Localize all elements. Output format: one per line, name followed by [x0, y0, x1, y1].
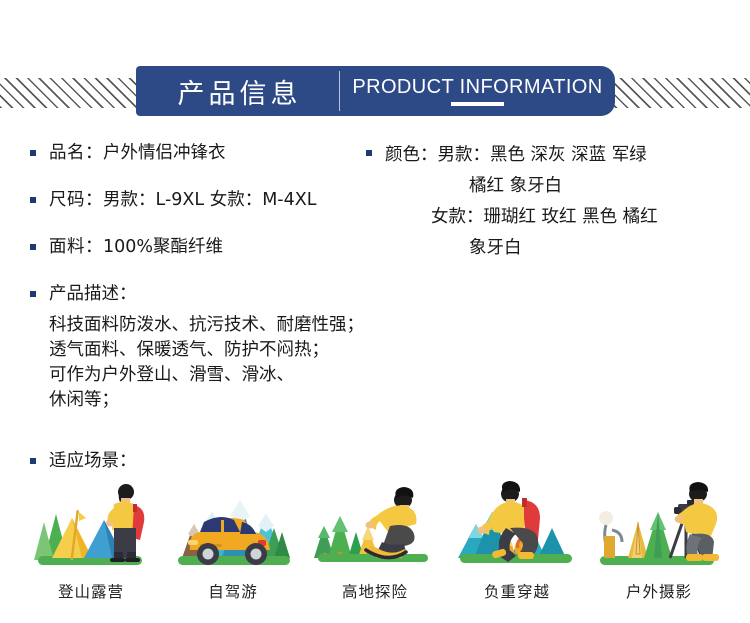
spec-value-fabric: 100%聚酯纤维 — [103, 237, 223, 257]
scene-label-highland: 高地探险 — [342, 580, 408, 602]
spec-row-color: 颜色：男款：黑色 深灰 深蓝 军绿 橘红 象牙白 女款：珊瑚红 玫红 黑色 橘红… — [366, 140, 736, 264]
scene-item-trekking[interactable]: 负重穿越 — [448, 478, 586, 608]
description-line: 透气面料、保暖透气、防护不闷热； — [49, 338, 375, 363]
bullet-square-icon — [30, 244, 36, 250]
spec-label-fabric: 面料： — [49, 237, 103, 257]
scene-label-trekking: 负重穿越 — [484, 580, 550, 602]
hatch-pattern-left — [0, 78, 146, 108]
bullet-square-icon — [30, 150, 36, 156]
description-body: 科技面料防泼水、抗污技术、耐磨性强； 透气面料、保暖透气、防护不闷热； 可作为户… — [49, 313, 375, 413]
scene-label-photography: 户外摄影 — [626, 580, 692, 602]
scene-label-camping: 登山露营 — [58, 580, 124, 602]
scene-label-roadtrip: 自驾游 — [208, 580, 258, 602]
scene-item-camping[interactable]: 登山露营 — [22, 478, 160, 608]
bullet-square-icon — [30, 197, 36, 203]
spec-column-left: 品名：户外情侣冲锋衣 尺码：男款：L-9XL 女款：M-4XL 面料：100%聚… — [30, 140, 375, 413]
road-trip-car-icon — [164, 478, 302, 574]
spec-row-name: 品名：户外情侣冲锋衣 — [30, 140, 375, 166]
color-line-mens-cont: 橘红 象牙白 — [385, 171, 658, 202]
page-title-cn: 产品信息 — [136, 66, 339, 116]
title-banner: 产品信息 PRODUCT INFORMATION — [136, 66, 615, 116]
color-line-womens-cont: 象牙白 — [385, 233, 658, 264]
hiker-backpack-icon — [448, 478, 586, 574]
scene-strip: 登山露营 — [22, 478, 728, 608]
bullet-square-icon — [30, 458, 36, 464]
page-title-en-block: PRODUCT INFORMATION — [340, 66, 615, 116]
spec-value-size: 男款：L-9XL 女款：M-4XL — [103, 190, 316, 210]
color-line-womens: 女款：珊瑚红 玫红 黑色 橘红 — [385, 202, 658, 233]
bullet-square-icon — [366, 150, 372, 156]
spec-row-fabric: 面料：100%聚酯纤维 — [30, 234, 375, 260]
scenes-label: 适应场景： — [49, 448, 137, 474]
spec-row-size: 尺码：男款：L-9XL 女款：M-4XL — [30, 187, 375, 213]
color-line-mens: 男款：黑色 深灰 深蓝 军绿 — [438, 145, 647, 165]
page-title-en: PRODUCT INFORMATION — [352, 77, 602, 97]
spec-label-description: 产品描述： — [49, 281, 137, 307]
scene-item-highland[interactable]: 高地探险 — [306, 478, 444, 608]
scenes-heading: 适应场景： — [30, 448, 137, 474]
scene-item-roadtrip[interactable]: 自驾游 — [164, 478, 302, 608]
spec-value-name: 户外情侣冲锋衣 — [103, 143, 226, 163]
spec-label-name: 品名： — [49, 143, 103, 163]
hatch-pattern-right — [604, 78, 750, 108]
description-line: 科技面料防泼水、抗污技术、耐磨性强； — [49, 313, 375, 338]
spec-column-right: 颜色：男款：黑色 深灰 深蓝 军绿 橘红 象牙白 女款：珊瑚红 玫红 黑色 橘红… — [366, 140, 736, 285]
title-underline — [451, 102, 504, 106]
description-line: 可作为户外登山、滑雪、滑冰、 — [49, 363, 375, 388]
spec-row-description: 产品描述： — [30, 281, 375, 307]
spec-label-size: 尺码： — [49, 190, 103, 210]
snowboarder-icon — [306, 478, 444, 574]
camping-tent-icon — [22, 478, 160, 574]
bullet-square-icon — [30, 291, 36, 297]
photographer-tripod-icon — [590, 478, 728, 574]
scene-item-photography[interactable]: 户外摄影 — [590, 478, 728, 608]
spec-label-color: 颜色： — [385, 145, 438, 165]
description-line: 休闲等； — [49, 388, 375, 413]
page-header: 产品信息 PRODUCT INFORMATION — [0, 0, 750, 135]
